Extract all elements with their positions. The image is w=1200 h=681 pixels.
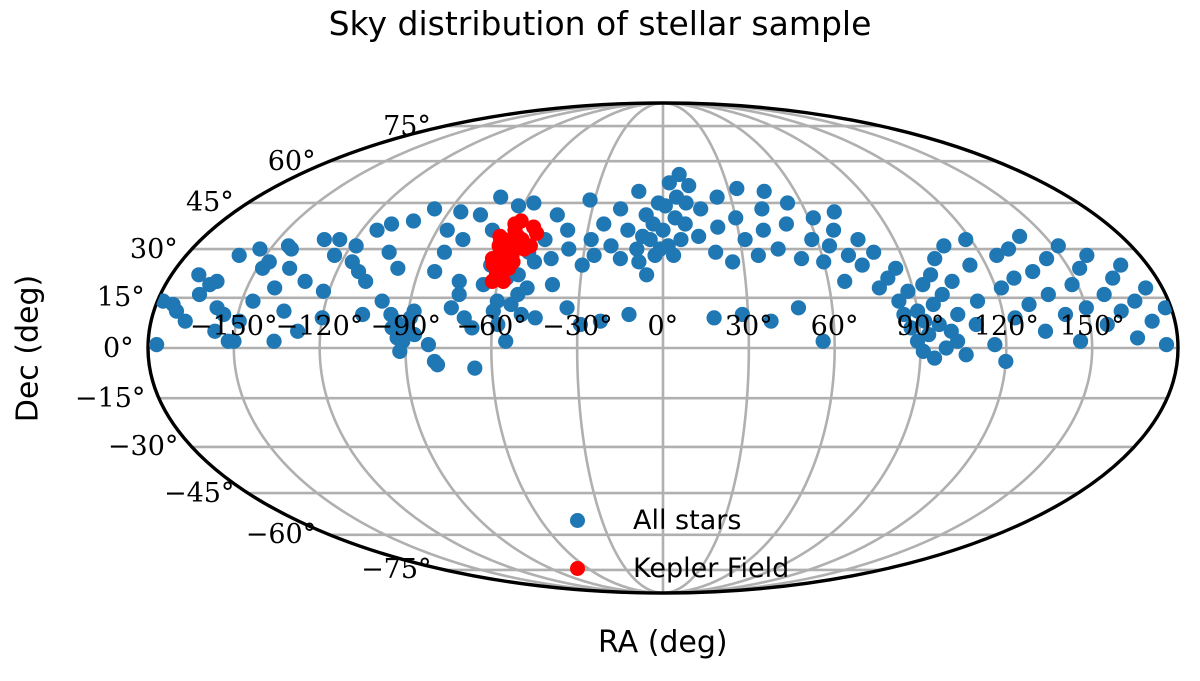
data-point [631,254,646,269]
data-point [1039,251,1054,266]
ytick--30: −30° [108,433,178,460]
data-point [756,223,771,238]
y-axis-label: Dec (deg) [10,274,45,422]
data-point [631,184,646,199]
data-point [935,287,950,302]
ytick--45: −45° [164,480,234,507]
data-point [771,241,786,256]
data-point [1127,294,1142,309]
xtick-30: 30° [725,313,773,340]
series-all-stars [149,167,1174,376]
data-point [707,310,722,325]
data-point [729,181,744,196]
data-point [927,350,942,365]
data-point [1025,264,1040,279]
data-point [655,223,670,238]
data-point [837,274,852,289]
data-point [490,294,505,309]
chart-root: Sky distribution of stellar sample Dec (… [0,0,1200,681]
data-point [262,254,277,269]
data-point [673,232,688,247]
data-point [149,337,164,352]
data-point [936,238,951,253]
legend-label-kepler-field: Kepler Field [633,553,789,584]
data-point [327,248,342,263]
data-point [754,201,769,216]
xtick-120: 120° [974,313,1039,340]
data-point [550,207,565,222]
data-point [1105,270,1120,285]
data-point [587,248,602,263]
data-point [806,210,821,225]
data-point [452,274,467,289]
data-point [453,204,468,219]
data-point [855,257,870,272]
data-point [440,223,455,238]
data-point [804,232,819,247]
data-point [496,274,511,289]
data-point [1145,314,1160,329]
data-point [678,195,693,210]
data-point [678,216,693,231]
xtick-0: 0° [648,313,679,340]
data-point [560,223,575,238]
data-point [613,251,628,266]
data-point [584,232,599,247]
data-point [1064,277,1079,292]
data-point [620,223,635,238]
ytick-45: 45° [186,189,234,216]
data-point [1130,330,1145,345]
data-point [1051,238,1066,253]
data-point [519,280,534,295]
data-point [691,229,706,244]
xtick--90: −90° [371,313,441,340]
data-point [1006,270,1021,285]
ytick-0: 0° [103,335,134,362]
data-point [406,213,421,228]
data-point [527,254,542,269]
data-point [1072,261,1087,276]
data-point [245,294,260,309]
data-point [1021,297,1036,312]
data-point [297,274,312,289]
data-point [944,274,959,289]
x-axis-label: RA (deg) [598,625,728,660]
data-point [252,241,267,256]
data-point [791,300,806,315]
data-point [452,287,467,302]
data-point [455,232,470,247]
data-point [666,248,681,263]
data-point [900,284,915,299]
ytick-60: 60° [268,148,316,175]
data-point [841,248,856,263]
data-point [826,223,841,238]
data-point [994,280,1009,295]
ytick-75: 75° [383,113,431,140]
xtick--30: −30° [542,313,612,340]
data-point [866,245,881,260]
data-point [545,277,560,292]
data-point [544,251,559,266]
legend-marker-kepler-field [570,561,585,576]
data-point [349,238,364,253]
xtick-150: 150° [1060,313,1125,340]
data-point [467,361,482,376]
data-point [267,280,282,295]
data-point [962,257,977,272]
data-point [1097,287,1112,302]
data-point [493,190,508,205]
data-point [816,254,831,269]
xtick-90: 90° [897,313,945,340]
xtick-60: 60° [811,313,859,340]
data-point [561,241,576,256]
data-point [710,219,725,234]
data-point [1038,324,1053,339]
data-point [284,241,299,256]
data-point [850,232,865,247]
data-point [751,248,766,263]
data-point [710,190,725,205]
data-point [427,264,442,279]
data-point [927,251,942,266]
data-point [998,354,1013,369]
data-point [526,195,541,210]
data-point [970,294,985,309]
ytick-15: 15° [97,284,145,311]
data-point [613,201,628,216]
data-point [582,192,597,207]
data-point [639,267,654,282]
data-point [369,223,384,238]
data-point [950,307,965,322]
data-point [757,184,772,199]
data-point [725,254,740,269]
legend-marker-all-stars [570,513,585,528]
data-point [492,229,507,244]
data-point [437,245,452,260]
xtick--60: −60° [456,313,526,340]
data-point [1041,287,1056,302]
data-point [827,204,842,219]
data-point [780,195,795,210]
scatter-layer [149,167,1174,376]
data-point [384,216,399,231]
data-point [1001,241,1016,256]
data-point [382,245,397,260]
data-point [517,241,532,256]
data-point [958,232,973,247]
data-point [505,254,520,269]
data-point [473,207,488,222]
ytick--15: −15° [75,385,145,412]
data-point [1138,280,1153,295]
data-point [282,261,297,276]
data-point [232,248,247,263]
data-point [575,257,590,272]
data-point [390,261,405,276]
data-point [794,251,809,266]
data-point [888,261,903,276]
data-point [528,310,543,325]
data-point [1079,248,1094,263]
data-point [693,201,708,216]
data-point [738,232,753,247]
data-point [923,267,938,282]
data-point [209,274,224,289]
data-point [511,198,526,213]
xtick--150: −150° [190,313,278,340]
data-point [959,347,974,362]
data-point [427,201,442,216]
data-point [1159,337,1174,352]
data-point [430,357,445,372]
data-point [779,216,794,231]
data-point [728,210,743,225]
data-point [358,274,373,289]
ytick--60: −60° [246,521,316,548]
xtick--120: −120° [276,313,364,340]
data-point [603,238,618,253]
data-point [375,294,390,309]
data-point [1113,257,1128,272]
data-point [681,178,696,193]
data-point [332,232,347,247]
data-point [708,245,723,260]
ytick--75: −75° [361,556,431,583]
data-point [316,284,331,299]
data-point [950,334,965,349]
data-point [621,307,636,322]
ytick-30: 30° [130,236,178,263]
legend-label-all-stars: All stars [633,505,741,536]
data-point [822,238,837,253]
data-point [1012,229,1027,244]
data-point [596,216,611,231]
data-point [317,232,332,247]
